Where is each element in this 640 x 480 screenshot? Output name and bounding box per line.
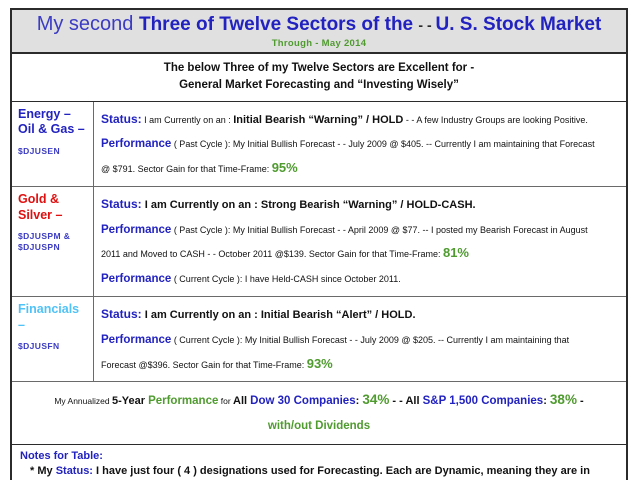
status-strong: Strong Bearish “Warning” / HOLD-CASH. [261,199,476,211]
status-strong: Initial Bearish “Alert” / HOLD. [261,309,416,321]
annualized-performance-word: Performance [148,395,218,407]
intro-line-1: The below Three of my Twelve Sectors are… [16,60,622,77]
annualized-all-2: All [405,395,422,407]
intro-line-2: General Market Forecasting and “Investin… [16,77,622,94]
annualized-prefix: My Annualized [54,396,112,406]
performance-tail: @ $791. Sector Gain for that Time-Frame: [101,164,272,174]
status-tail: - - A few Industry Groups are looking Po… [403,115,588,125]
annualized-for-word: for [218,396,233,406]
sector-title-financials: Financials – [18,302,90,333]
sector-title-line2: Oil & Gas – [18,122,90,138]
sector-title-energy: Energy – Oil & Gas – [18,107,90,138]
sector-title-line2: Silver – [18,208,90,224]
performance-tail: 2011 and Moved to CASH - - October 2011 … [101,249,443,259]
performance-tail: Forecast @$396. Sector Gain for that Tim… [101,360,307,370]
status-strong: Initial Bearish “Warning” / HOLD [233,114,403,126]
sector-row-financials: Financials – $DJUSFN Status: I am Curren… [12,297,626,382]
performance-label: Performance [101,138,171,150]
sector-ticker-gold-silver: $DJUSPM & $DJUSPN [18,231,90,253]
sector-name-cell-energy: Energy – Oil & Gas – $DJUSEN [12,102,94,186]
notes-status-keyword: Status: [56,465,93,477]
annualized-five-year: 5-Year [112,395,148,407]
sector-name-cell-financials: Financials – $DJUSFN [12,297,94,381]
sector-performance-tail-line: @ $791. Sector Gain for that Time-Frame:… [101,156,621,181]
status-small: I am Currently on an : [142,115,234,125]
sector-performance-line: Performance ( Past Cycle ): My Initial B… [101,131,621,156]
sector-name-cell-gold-silver: Gold & Silver – $DJUSPM & $DJUSPN [12,187,94,296]
sector-row-gold-silver: Gold & Silver – $DJUSPM & $DJUSPN Status… [12,187,626,297]
sector-gain-percent: 95% [272,160,298,175]
notes-status-paragraph: * My Status: I have just four ( 4 ) desi… [20,464,618,480]
sector-status-line: Status: I am Currently on an : Strong Be… [101,192,621,217]
performance-label: Performance [101,334,171,346]
sector-body-financials: Status: I am Currently on an : Initial B… [94,297,626,381]
performance-extra-text: ( Current Cycle ): I have Held-CASH sinc… [171,274,400,284]
sector-performance-tail-line: 2011 and Moved to CASH - - October 2011 … [101,241,621,266]
annualized-performance-band: My Annualized 5-Year Performance for All… [12,382,626,445]
sector-title-line1: Gold & [18,192,90,208]
sector-gain-percent: 81% [443,245,469,260]
title-bold-1: Three of Twelve Sectors of the [139,14,418,35]
sector-status-line: Status: I am Currently on an : Initial B… [101,302,621,327]
annualized-all-1: All [233,395,250,407]
sector-ticker-financials: $DJUSFN [18,341,90,352]
title-light: My second [37,13,139,35]
title-subtitle: Through - May 2014 [14,38,624,49]
sector-ticker-energy: $DJUSEN [18,146,90,157]
status-label: Status: [101,197,142,211]
annualized-dividends-note: with/out Dividends [268,420,370,432]
annualized-colon-2: : [543,395,550,407]
sector-performance-tail-line: Forecast @$396. Sector Gain for that Tim… [101,352,621,377]
performance-text: ( Past Cycle ): My Initial Bullish Forec… [171,139,594,149]
annualized-separator: - - [389,395,405,407]
notes-status-star: * My [30,465,56,477]
title-dash: - - [418,17,435,33]
performance-text: ( Current Cycle ): My Initial Bullish Fo… [171,335,569,345]
performance-extra-label: Performance [101,273,171,285]
page-root: My second Three of Twelve Sectors of the… [0,0,640,480]
sector-performance-extra-line: Performance ( Current Cycle ): I have He… [101,266,621,291]
status-small: I am Currently on an : [142,309,261,321]
annualized-group-2: S&P 1,500 Companies [423,395,544,407]
title-bold-2: U. S. Stock Market [436,14,602,35]
stock-sectors-table: My second Three of Twelve Sectors of the… [10,8,628,480]
sector-title-gold-silver: Gold & Silver – [18,192,90,223]
annualized-group-1: Dow 30 Companies [250,395,355,407]
notes-heading: Notes for Table: [20,450,618,462]
annualized-line-2: with/out Dividends [18,413,620,438]
sector-status-line: Status: I am Currently on an : Initial B… [101,107,621,132]
sector-performance-line: Performance ( Past Cycle ): My Initial B… [101,217,621,242]
sector-body-gold-silver: Status: I am Currently on an : Strong Be… [94,187,626,296]
notes-status-body: I have just four ( 4 ) designations used… [42,465,590,480]
sector-title-line1: Financials [18,302,90,318]
annualized-line-1: My Annualized 5-Year Performance for All… [18,388,620,413]
sector-row-energy: Energy – Oil & Gas – $DJUSEN Status: I a… [12,102,626,187]
status-label: Status: [101,112,142,126]
title-line: My second Three of Twelve Sectors of the… [14,14,624,35]
status-small: I am Currently on an : [142,199,261,211]
annualized-pct-1: 34% [362,392,389,407]
sector-performance-line: Performance ( Current Cycle ): My Initia… [101,327,621,352]
status-label: Status: [101,307,142,321]
title-band: My second Three of Twelve Sectors of the… [12,10,626,54]
intro-band: The below Three of my Twelve Sectors are… [12,54,626,102]
sector-body-energy: Status: I am Currently on an : Initial B… [94,102,626,186]
performance-label: Performance [101,224,171,236]
annualized-trailing: - [577,395,584,407]
performance-text: ( Past Cycle ): My Initial Bullish Forec… [171,225,587,235]
annualized-pct-2: 38% [550,392,577,407]
sector-gain-percent: 93% [307,356,333,371]
notes-band: Notes for Table: * My Status: I have jus… [12,445,626,480]
sector-title-line2: – [18,318,90,334]
sector-title-line1: Energy – [18,107,90,123]
